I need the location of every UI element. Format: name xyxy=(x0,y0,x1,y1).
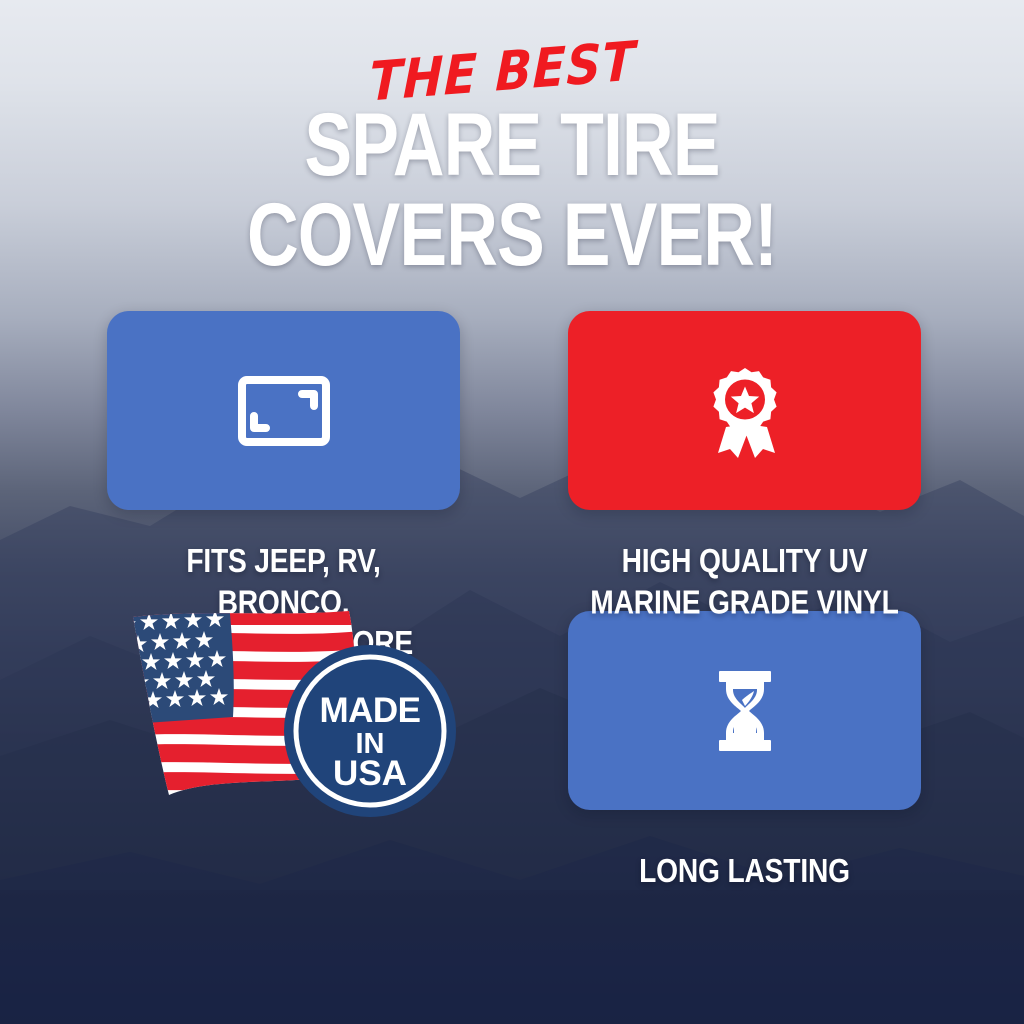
feature-tile-fits xyxy=(107,311,460,510)
badge-text-usa: USA xyxy=(333,754,407,793)
badge-text-made: MADE xyxy=(319,691,420,730)
feature-tile-quality xyxy=(568,311,921,510)
feature-caption-long-lasting: LONG LASTING xyxy=(579,852,911,893)
headline-line-2: COVERS EVER! xyxy=(36,193,988,279)
hourglass-icon xyxy=(693,659,797,763)
feature-grid: FITS JEEP, RV, BRONCO, CAMPERS & MORE xyxy=(107,311,921,901)
award-ribbon-icon xyxy=(693,359,797,463)
feature-tile-long-lasting xyxy=(568,611,921,810)
made-in-usa-block: MADE IN USA xyxy=(107,611,460,821)
feature-row-bottom: MADE IN USA xyxy=(107,611,921,901)
headline-line-1: SPARE TIRE xyxy=(36,103,988,189)
feature-long-lasting: LONG LASTING xyxy=(568,611,921,901)
fit-resize-icon xyxy=(232,359,336,463)
made-in-usa-badge-icon: MADE IN USA xyxy=(282,643,458,819)
feature-made-in-usa: MADE IN USA xyxy=(107,611,460,901)
feature-caption-quality: HIGH QUALITY UV MARINE GRADE VINYL xyxy=(579,542,911,624)
feature-row-top: FITS JEEP, RV, BRONCO, CAMPERS & MORE xyxy=(107,311,921,611)
headline-block: THE BEST SPARE TIRE COVERS EVER! xyxy=(0,48,1024,267)
feature-high-quality-vinyl: HIGH QUALITY UV MARINE GRADE VINYL xyxy=(568,311,921,611)
feature-fits-vehicles: FITS JEEP, RV, BRONCO, CAMPERS & MORE xyxy=(107,311,460,611)
promo-poster: THE BEST SPARE TIRE COVERS EVER! FITS JE… xyxy=(0,0,1024,1024)
